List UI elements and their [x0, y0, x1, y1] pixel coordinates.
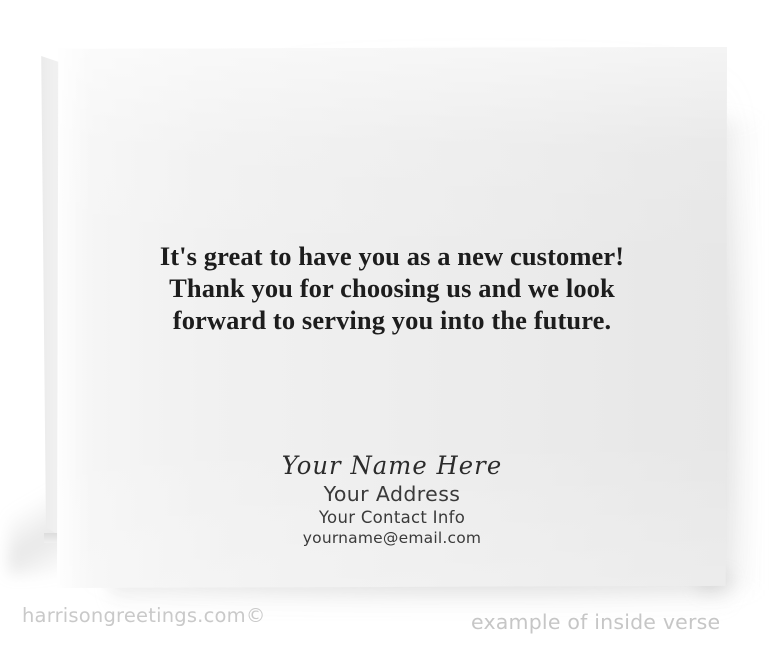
watermark-website: harrisongreetings.com© — [22, 604, 266, 628]
greeting-card-scene: It's great to have you as a new customer… — [0, 0, 769, 671]
paper-sheen-overlay — [57, 47, 727, 588]
card-fold-highlight — [57, 47, 91, 588]
caption-inside-verse: example of inside verse — [471, 609, 720, 635]
card-front-panel — [57, 47, 727, 588]
